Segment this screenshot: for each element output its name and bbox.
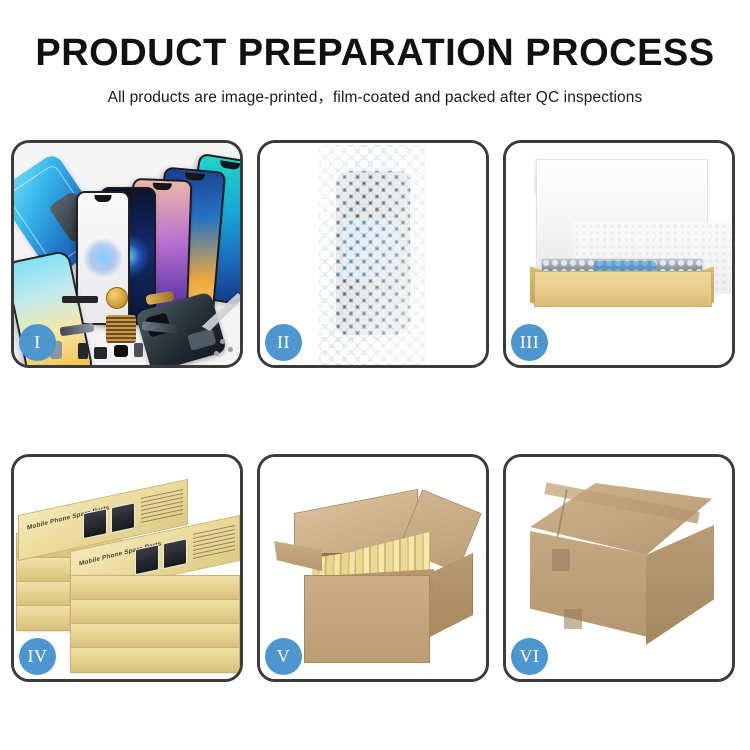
carton-tab	[552, 549, 570, 571]
screw-icon	[214, 351, 219, 356]
camera-module-icon	[114, 345, 128, 357]
small-part-icon	[134, 343, 143, 357]
carton-tab	[564, 609, 582, 629]
plastic-sheen	[319, 145, 427, 365]
speaker-mesh-icon	[106, 315, 136, 343]
step-badge-6: VI	[511, 638, 548, 675]
small-part-icon	[94, 347, 107, 359]
bubble-wrap-sleeve	[319, 145, 427, 365]
step-badge-3: III	[511, 324, 548, 361]
vibration-motor-icon	[106, 287, 128, 309]
earpiece-icon	[62, 296, 98, 303]
page-title: PRODUCT PREPARATION PROCESS	[0, 34, 750, 74]
step-panel-4: Mobile Phone Spare Parts Mobile Phone Sp…	[11, 454, 243, 682]
screw-icon	[228, 347, 233, 352]
page-subtitle: All products are image-printed，film-coat…	[0, 85, 750, 107]
step-badge-5: V	[265, 638, 302, 675]
product-preparation-infographic: PRODUCT PREPARATION PROCESS All products…	[0, 0, 750, 750]
step-panel-3: III	[503, 140, 735, 368]
small-part-icon	[78, 343, 88, 359]
step-panel-5: V	[257, 454, 489, 682]
step-panel-1: I	[11, 140, 243, 368]
header: PRODUCT PREPARATION PROCESS All products…	[0, 0, 750, 107]
step-badge-4: IV	[19, 638, 56, 675]
step-badge-2: II	[265, 324, 302, 361]
box-tray-base	[534, 271, 712, 307]
carton-front-face	[304, 575, 430, 663]
step-badge-1: I	[19, 324, 56, 361]
steps-grid: I II	[11, 140, 739, 682]
screw-icon	[220, 339, 225, 344]
step-panel-2: II	[257, 140, 489, 368]
step-panel-6: VI	[503, 454, 735, 682]
